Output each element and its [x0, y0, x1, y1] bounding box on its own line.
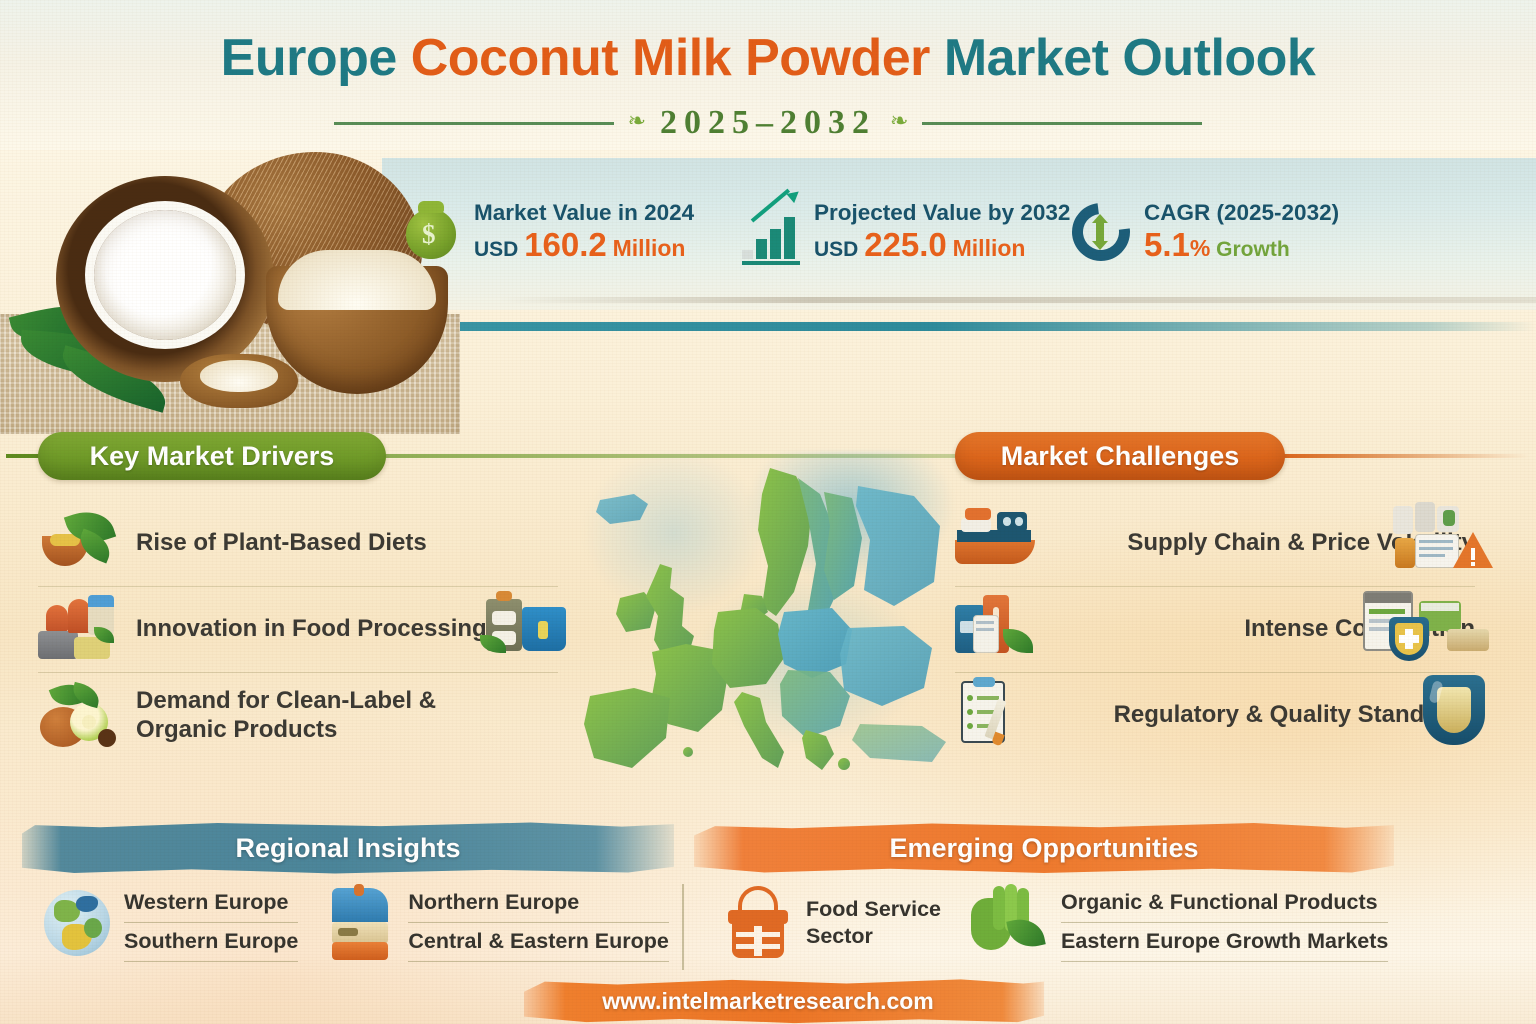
driver-row-3: Demand for Clean-Label & Organic Product… — [38, 672, 558, 758]
page-title: Europe Coconut Milk Powder Market Outloo… — [0, 28, 1536, 88]
driver-row-2: Innovation in Food Processing — [38, 586, 558, 672]
regional-line: Southern Europe — [124, 922, 298, 962]
challenge-row-2: Intense Competition — [955, 586, 1475, 672]
opportunity-group-2: Organic & Functional Products Eastern Eu… — [969, 884, 1388, 962]
product-boxes-icon — [955, 593, 1035, 663]
regional-line: Central & Eastern Europe — [408, 922, 668, 962]
hand-leaf-icon — [969, 884, 1047, 962]
bottom-vertical-divider — [682, 884, 684, 970]
emerging-opportunities-groups: Food Service Sector Organic & Functional… — [726, 884, 1388, 962]
opportunity-line: Sector — [806, 922, 941, 956]
shopping-basket-icon — [726, 884, 792, 962]
subtitle-row: ❧ 2025–2032 ❧ — [0, 103, 1536, 143]
infographic-poster: Europe Coconut Milk Powder Market Outloo… — [0, 0, 1536, 1024]
arrow-up-icon — [752, 195, 798, 227]
title-part-1: Europe — [221, 29, 411, 87]
stat-value: USD 160.2 Million — [474, 228, 694, 263]
stat-value: 5.1% Growth — [1144, 228, 1339, 263]
regional-insights-groups: Western Europe Southern Europe Northern … — [44, 884, 669, 962]
europe-map — [548, 452, 968, 788]
opportunity-line: Food Service — [806, 891, 941, 922]
coconut-flesh — [94, 210, 236, 340]
coconut-product-photo — [0, 138, 464, 434]
challenge-label: Regulatory & Quality Standards — [1114, 701, 1475, 730]
regional-line: Western Europe — [124, 884, 298, 922]
globe-europe-icon — [44, 884, 110, 962]
warning-packages-icon — [1393, 500, 1493, 574]
pill-tail-orange-right — [1279, 454, 1529, 458]
stat-value: USD 225.0 Million — [814, 228, 1070, 263]
money-bag-icon: $ — [400, 199, 462, 265]
section-heading-emerging-opportunities: Emerging Opportunities — [694, 822, 1394, 874]
title-part-2: Coconut Milk Powder — [411, 29, 930, 87]
driver-label: Demand for Clean-Label & Organic Product… — [136, 687, 436, 745]
clipboard-checklist-icon — [957, 677, 1037, 747]
factory-silo-icon — [328, 884, 394, 962]
cargo-ship-icon — [955, 506, 1035, 576]
section-heading-regional-insights: Regional Insights — [22, 822, 674, 874]
stat-percent: % — [1190, 235, 1210, 261]
spoon-powder — [200, 360, 278, 392]
divider-right — [922, 122, 1202, 125]
challenge-row-3: Regulatory & Quality Standards — [955, 672, 1475, 758]
organic-citrus-icon — [38, 681, 118, 751]
market-challenges-list: Supply Chain & Price Volatility — [955, 500, 1475, 758]
cagr-circular-arrow-icon — [1070, 199, 1132, 265]
shield-browser-icon — [1363, 589, 1489, 661]
leaf-icon-right: ❧ — [890, 110, 908, 132]
stat-unit: Million — [953, 235, 1026, 261]
opportunity-group-1: Food Service Sector — [726, 884, 941, 962]
stat-label: Projected Value by 2032 — [814, 201, 1070, 225]
stat-unit: Million — [613, 235, 686, 261]
packaging-bin-icon — [486, 591, 578, 657]
stat-currency: USD — [474, 238, 518, 261]
driver-label: Rise of Plant-Based Diets — [136, 529, 427, 558]
driver-row-1: Rise of Plant-Based Diets — [38, 500, 558, 586]
stat-unit: Growth — [1216, 238, 1290, 261]
stat-label: Market Value in 2024 — [474, 201, 694, 225]
plant-based-bowl-icon — [38, 508, 118, 578]
footer-url[interactable]: www.intelmarketresearch.com — [0, 978, 1536, 1024]
stat-cagr: CAGR (2025-2032) 5.1% Growth — [1070, 199, 1400, 265]
driver-label: Innovation in Food Processing — [136, 615, 487, 644]
section-heading-market-challenges: Market Challenges — [955, 432, 1285, 480]
stat-number: 160.2 — [524, 226, 607, 263]
title-part-3: Market Outlook — [930, 29, 1315, 87]
section-heading-key-market-drivers: Key Market Drivers — [38, 432, 386, 480]
stat-currency: USD — [814, 238, 858, 261]
regional-group-2: Northern Europe Central & Eastern Europe — [328, 884, 668, 962]
key-market-drivers-list: Rise of Plant-Based Diets Innovation in … — [38, 500, 558, 758]
opportunity-line: Eastern Europe Growth Markets — [1061, 922, 1388, 962]
leaf-icon-left: ❧ — [628, 110, 646, 132]
halved-coconut — [56, 176, 274, 382]
stat-projected-value-2032: Projected Value by 2032 USD 225.0 Millio… — [740, 199, 1070, 265]
subtitle-years: 2025–2032 — [660, 104, 876, 142]
stat-number: 5.1 — [1144, 226, 1190, 263]
regional-line: Northern Europe — [408, 884, 668, 922]
map-landmasses — [548, 452, 968, 788]
quality-shield-icon — [1423, 675, 1493, 747]
bar-chart-growth-icon — [740, 199, 802, 265]
opportunity-line: Organic & Functional Products — [1061, 884, 1388, 922]
food-factory-icon — [38, 595, 118, 665]
stat-label: CAGR (2025-2032) — [1144, 201, 1339, 225]
divider-left — [334, 122, 614, 125]
pale-brush-stroke — [500, 297, 1536, 303]
stat-number: 225.0 — [864, 226, 947, 263]
key-metrics-row: $ Market Value in 2024 USD 160.2 Million… — [400, 176, 1536, 288]
challenge-row-1: Supply Chain & Price Volatility — [955, 500, 1475, 586]
regional-group-1: Western Europe Southern Europe — [44, 884, 298, 962]
stat-market-value-2024: $ Market Value in 2024 USD 160.2 Million — [400, 199, 740, 265]
